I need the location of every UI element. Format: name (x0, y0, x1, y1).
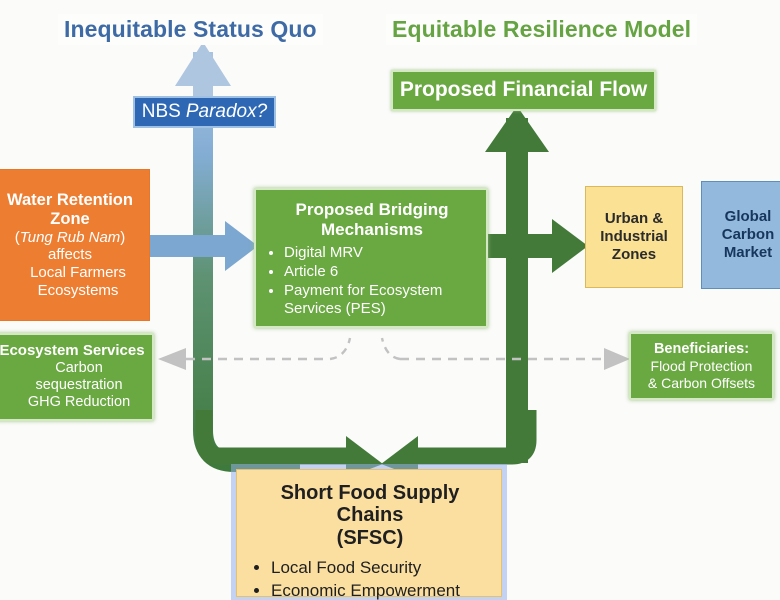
list-item: Digital MRV (284, 244, 478, 262)
paren-close: ) (120, 229, 125, 246)
node-proposed-bridging-mechanisms: Proposed Bridging Mechanisms Digital MRV… (254, 188, 488, 328)
bridging-title: Proposed Bridging Mechanisms (266, 200, 478, 239)
water-zone-title-line2: Zone (0, 210, 145, 229)
list-item: Carbon sequestration (10, 360, 148, 394)
bridging-list: Digital MRV Article 6 Payment for Ecosys… (266, 244, 478, 319)
bridging-title-line1: Proposed Bridging (266, 200, 478, 220)
water-zone-relation: affects (0, 246, 145, 264)
list-item: Economic Empowerment (271, 580, 493, 600)
heading-equitable-resilience-model: Equitable Resilience Model (386, 14, 697, 45)
node-urban-industrial-zones: Urban & Industrial Zones (585, 186, 683, 288)
green-right-arrow (488, 219, 588, 273)
ecosystem-services-list: Carbon sequestration GHG Reduction (0, 360, 148, 411)
water-zone-subtitle: (Tung Rub Nam) (0, 229, 145, 247)
list-item: Local Farmers (11, 264, 145, 282)
beneficiaries-title: Beneficiaries: (631, 341, 772, 358)
node-global-carbon-market: Global Carbon Market (701, 181, 780, 289)
sfsc-title-line1: Short Food Supply Chains (247, 482, 493, 527)
ecosystem-services-title: Ecosystem Services (0, 342, 148, 360)
water-zone-title: Water Retention Zone (0, 191, 145, 229)
nbs-paradox-badge: NBS Paradox? (133, 96, 276, 128)
node-beneficiaries: Beneficiaries: Flood Protection & Carbon… (629, 332, 774, 400)
list-item: GHG Reduction (10, 394, 148, 411)
carbon-market-line2: Carbon (702, 226, 780, 244)
nbs-label: NBS (142, 101, 181, 123)
water-zone-list: Local Farmers Ecosystems (0, 264, 145, 299)
green-up-arrow (485, 106, 549, 463)
bridging-title-line2: Mechanisms (266, 220, 478, 240)
urban-zones-line3: Zones (586, 246, 682, 264)
beneficiaries-line3: & Carbon Offsets (631, 375, 772, 392)
node-proposed-financial-flow: Proposed Financial Flow (391, 70, 656, 111)
carbon-market-line1: Global (702, 208, 780, 226)
paradox-label: Paradox? (186, 101, 267, 123)
list-item: Local Food Security (271, 557, 493, 580)
node-ecosystem-services: Ecosystem Services Carbon sequestration … (0, 333, 154, 421)
sfsc-title: Short Food Supply Chains (SFSC) (247, 482, 493, 549)
water-zone-local-name: Tung Rub Nam (20, 229, 121, 246)
dashed-bidirectional-connector (186, 338, 612, 359)
carbon-market-line3: Market (702, 244, 780, 262)
dashed-left-arrowhead (158, 348, 186, 370)
urban-zones-line2: Industrial (586, 228, 682, 246)
node-short-food-supply-chains: Short Food Supply Chains (SFSC) Local Fo… (236, 469, 502, 597)
urban-zones-line1: Urban & (586, 210, 682, 228)
dashed-right-arrowhead (604, 348, 630, 370)
node-water-retention-zone: Water Retention Zone (Tung Rub Nam) affe… (0, 169, 150, 321)
beneficiaries-line2: Flood Protection (631, 358, 772, 375)
financial-flow-title: Proposed Financial Flow (393, 78, 654, 103)
list-item: Ecosystems (11, 282, 145, 300)
heading-inequitable-status-quo: Inequitable Status Quo (58, 14, 323, 45)
sfsc-title-line2: (SFSC) (247, 527, 493, 549)
water-zone-title-line1: Water Retention (0, 191, 145, 210)
list-item: Article 6 (284, 263, 478, 281)
list-item: Payment for Ecosystem Services (PES) (284, 282, 478, 318)
diagram-canvas: Inequitable Status Quo Equitable Resilie… (0, 0, 780, 600)
sfsc-list: Local Food Security Economic Empowerment (247, 557, 493, 600)
